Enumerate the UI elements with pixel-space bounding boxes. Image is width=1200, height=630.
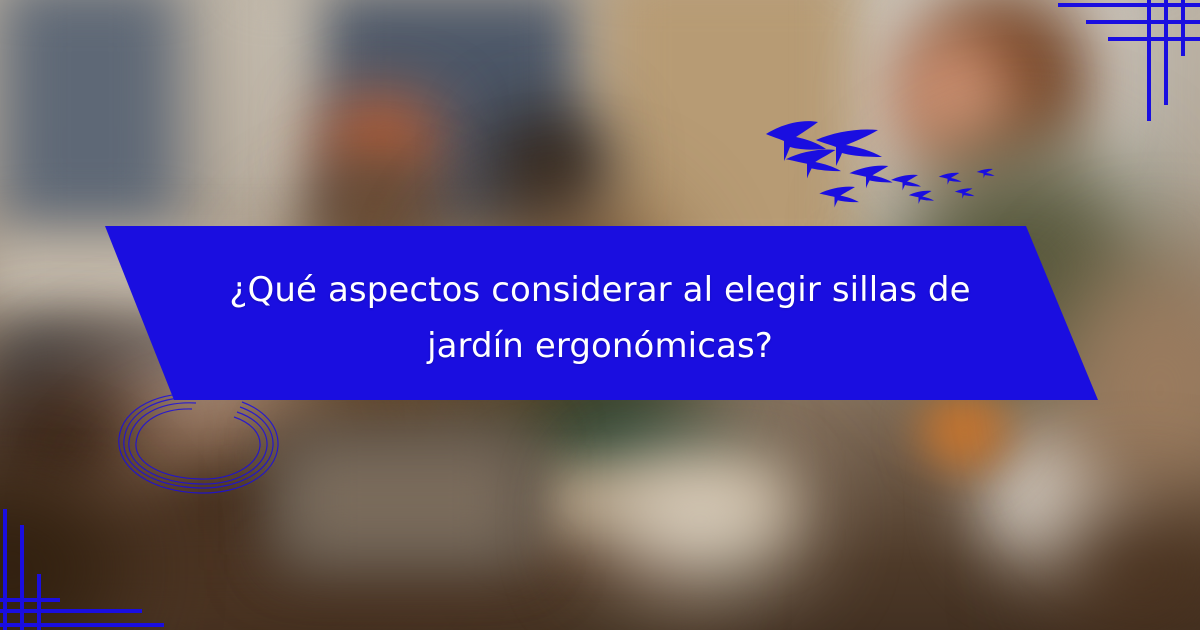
bg-window-left: [0, 0, 180, 230]
page-title-line-1: ¿Qué aspectos considerar al elegir silla…: [229, 270, 970, 310]
tr-h-line-1: [1058, 3, 1200, 7]
page-title: ¿Qué aspectos considerar al elegir silla…: [180, 262, 1020, 374]
bl-h-line-4: [0, 609, 142, 613]
page-title-line-2: jardín ergonómicas?: [427, 326, 773, 366]
tr-v-line-1: [1147, 0, 1151, 121]
tr-v-line-2: [1164, 0, 1168, 105]
social-card: ¿Qué aspectos considerar al elegir silla…: [0, 0, 1200, 630]
bl-v-line-2: [20, 525, 24, 630]
bl-h-line-3: [0, 598, 60, 602]
bg-laptop-screen: [290, 445, 520, 555]
tr-v-line-3: [1181, 0, 1185, 56]
bl-v-line-3: [37, 574, 41, 630]
bl-h-line-5: [0, 623, 164, 627]
tr-h-line-3: [1108, 37, 1200, 41]
bg-food-orange: [920, 390, 1010, 470]
bg-window-frame: [260, 0, 290, 280]
bg-paper-sheet: [600, 460, 800, 580]
